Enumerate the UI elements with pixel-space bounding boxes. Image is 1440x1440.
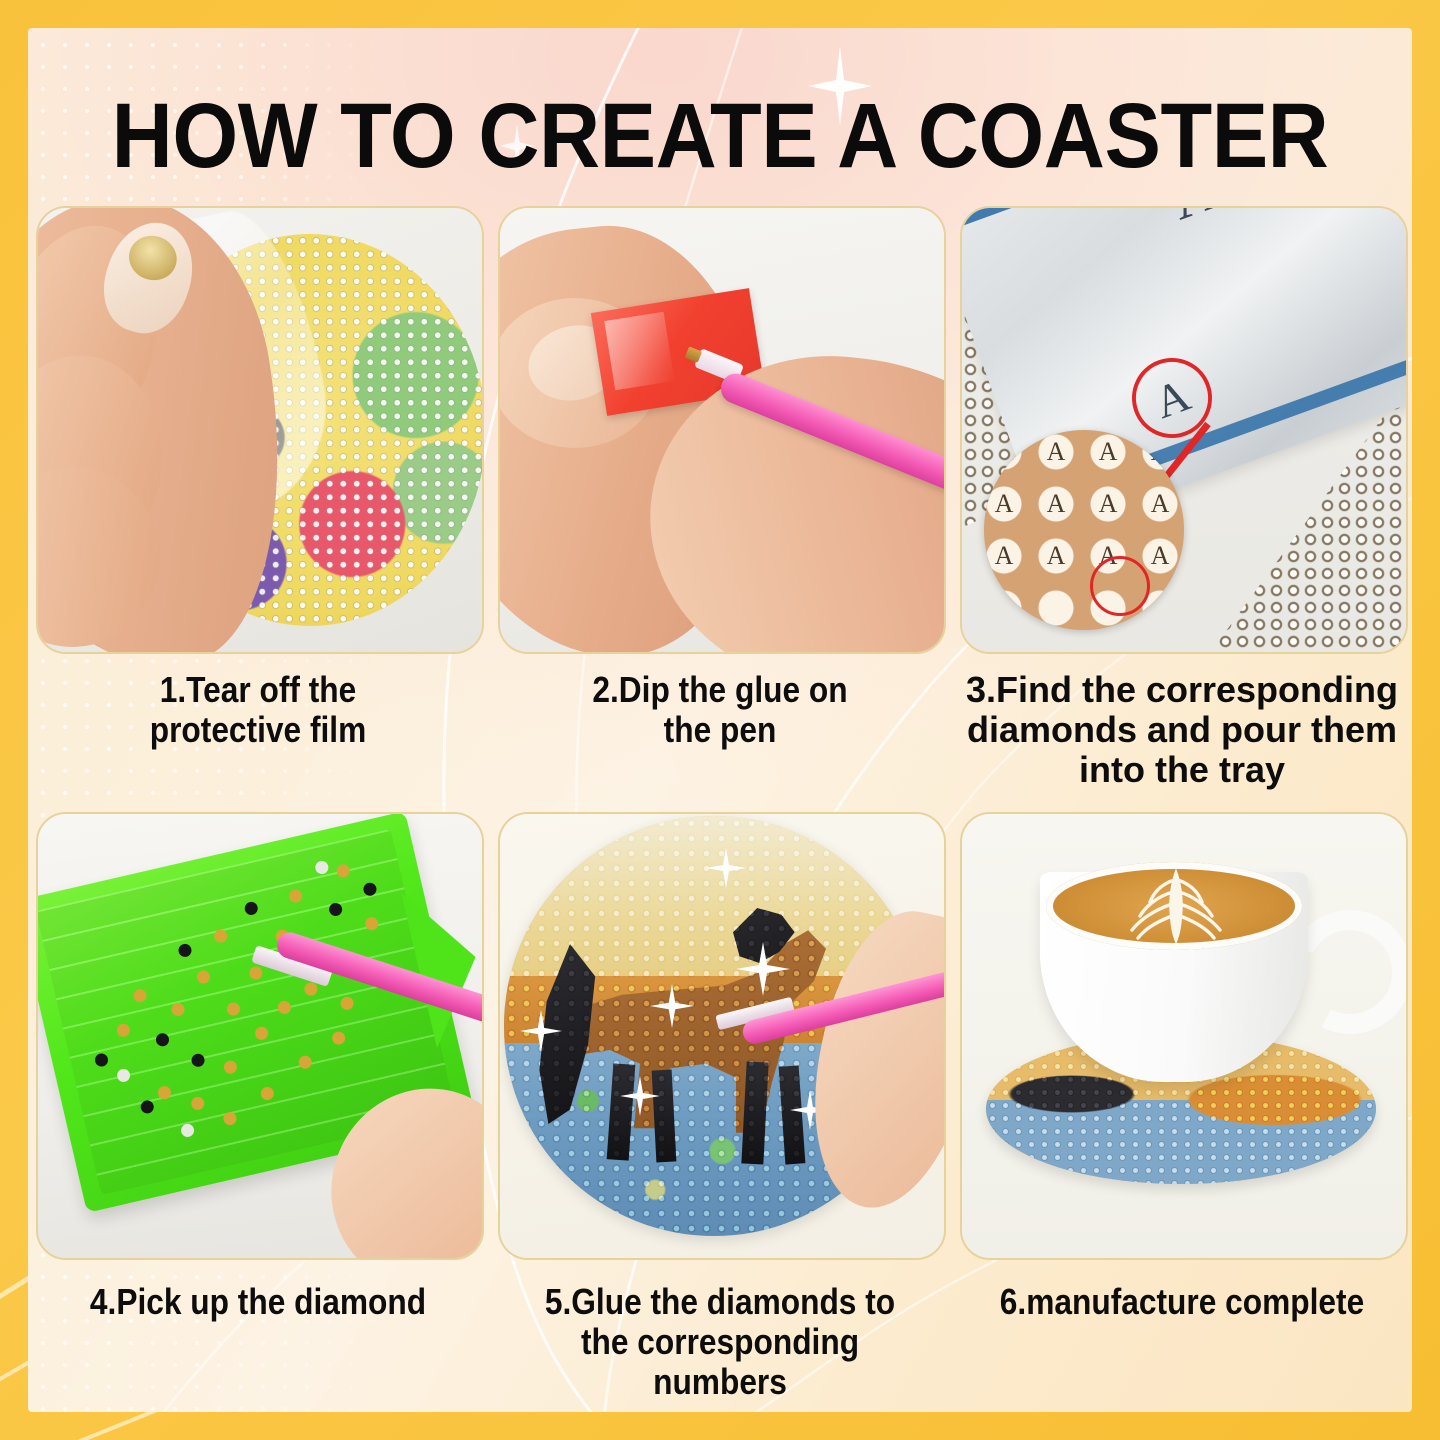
step-caption-2: 2.Dip the glue on the pen: [525, 670, 916, 750]
step-caption-4: 4.Pick up the diamond: [63, 1282, 454, 1322]
step-image-5: [498, 812, 946, 1260]
step-card-5: 5.Glue the diamonds to the corresponding…: [498, 812, 942, 1402]
step-caption-3: 3.Find the corresponding diamonds and po…: [960, 670, 1404, 790]
step-caption-5: 5.Glue the diamonds to the corresponding…: [525, 1282, 916, 1402]
step-caption-6: 6.manufacture complete: [987, 1282, 1378, 1322]
steps-row-top: 1.Tear off the protective film: [36, 206, 1404, 790]
step-image-4: [36, 812, 484, 1260]
canvas-cells-inset: A A A A A A A A A A: [984, 430, 1184, 630]
step-card-6: 6.manufacture complete: [960, 812, 1404, 1402]
step-card-4: 4.Pick up the diamond: [36, 812, 480, 1402]
step-card-3: A–BD1133 A A A: [960, 206, 1404, 790]
highlight-circle: [1090, 556, 1150, 616]
step-image-3: A–BD1133 A A A: [960, 206, 1408, 654]
steps-grid: 1.Tear off the protective film: [36, 206, 1404, 1402]
steps-row-bottom: 4.Pick up the diamond: [36, 812, 1404, 1402]
latte-art-icon: [1112, 866, 1240, 946]
bag-code-label: A–BD1133: [1161, 206, 1408, 235]
step-image-6: [960, 812, 1408, 1260]
step-image-2: [498, 206, 946, 654]
step-card-2: 2.Dip the glue on the pen: [498, 206, 942, 790]
poster-card: HOW TO CREATE A COASTER: [28, 28, 1412, 1412]
poster: HOW TO CREATE A COASTER: [0, 0, 1440, 1440]
page-title: HOW TO CREATE A COASTER: [83, 90, 1356, 182]
step-image-1: [36, 206, 484, 654]
step-caption-1: 1.Tear off the protective film: [63, 670, 454, 750]
step-card-1: 1.Tear off the protective film: [36, 206, 480, 790]
cell-letter-grid: A A A A A A A A A A: [984, 430, 1184, 630]
